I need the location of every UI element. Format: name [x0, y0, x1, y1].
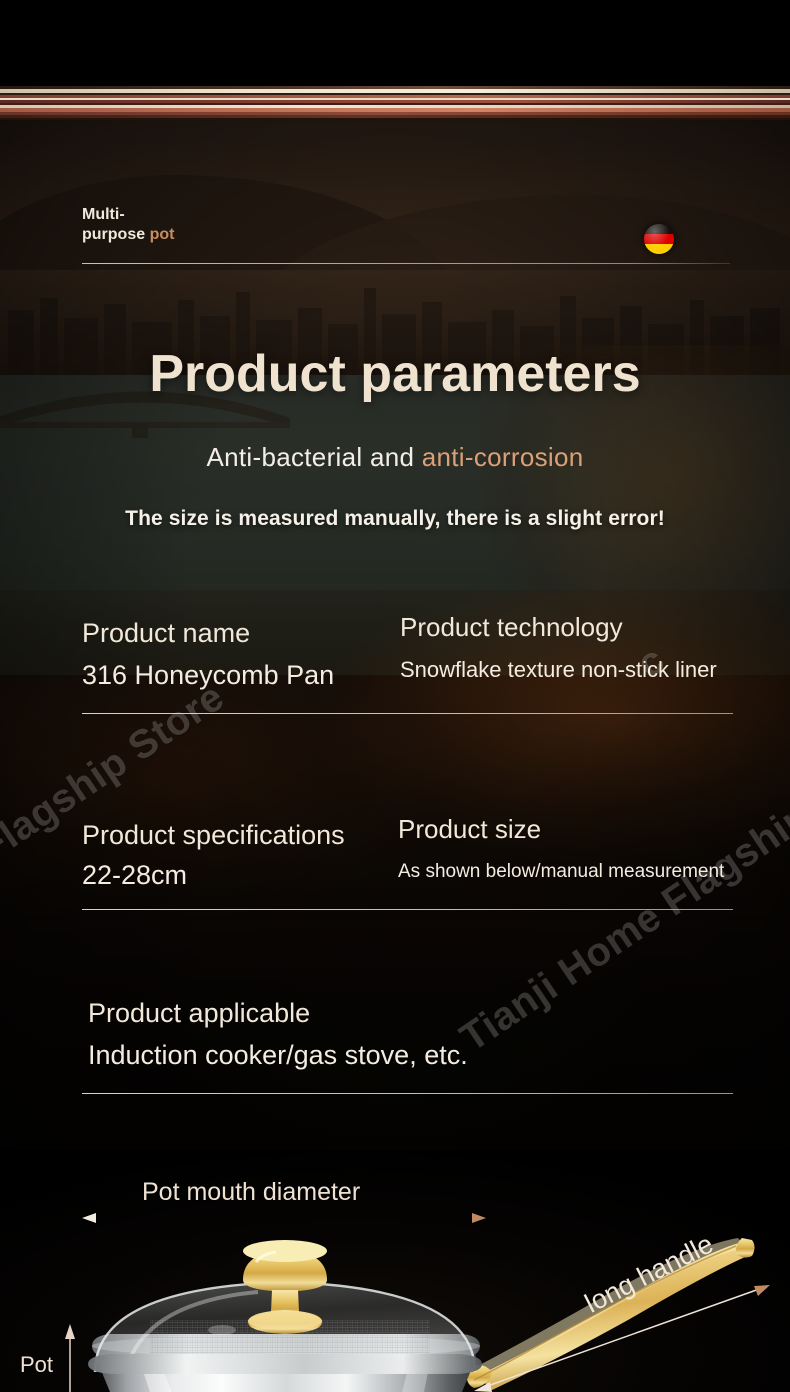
spec-label: Product specifications [82, 820, 345, 851]
spec-value: Snowflake texture non-stick liner [400, 657, 717, 683]
spec-label: Product name [82, 618, 334, 649]
brand-heading-line2-b: pot [150, 226, 175, 243]
spec-value: Induction cooker/gas stove, etc. [88, 1040, 468, 1071]
brand-heading-line1: Multi- [82, 205, 732, 225]
spec-label: Product applicable [88, 998, 468, 1029]
spec-value: As shown below/manual measurement [398, 861, 724, 883]
spec-cell-product-specifications: Product specifications 22-28cm [82, 820, 345, 891]
pot-depth-label: Pot [20, 1352, 53, 1378]
page-title: Product parameters [0, 344, 790, 404]
header-divider [82, 263, 730, 264]
subtitle-part-a: Anti-bacterial and [207, 442, 422, 472]
spec-divider [82, 1093, 733, 1094]
spec-label: Product technology [400, 612, 717, 643]
spec-value: 316 Honeycomb Pan [82, 660, 334, 691]
pot-depth-arrow-icon [65, 1324, 75, 1392]
brand-heading: Multi- purpose pot [82, 205, 732, 246]
brand-header: Multi- purpose pot [82, 205, 732, 246]
brand-heading-line2-a: purpose [82, 226, 150, 243]
mouth-diameter-label: Pot mouth diameter [142, 1178, 360, 1207]
subtitle-part-b: anti-corrosion [422, 442, 584, 472]
spec-label: Product size [398, 814, 724, 845]
german-flag-icon [644, 224, 674, 254]
pot-handle-icon [467, 1238, 755, 1390]
spec-value: 22-28cm [82, 860, 345, 891]
top-black-bar [0, 0, 790, 86]
decorative-stripe-band [0, 86, 790, 120]
spec-cell-product-name: Product name 316 Honeycomb Pan [82, 618, 334, 691]
pot-knob-icon [243, 1240, 327, 1334]
spec-divider [82, 713, 733, 714]
spec-cell-product-size: Product size As shown below/manual measu… [398, 814, 724, 883]
product-infographic-page: e Flagship Store Tianji Home Flagship c … [0, 0, 790, 1392]
page-subtitle: Anti-bacterial and anti-corrosion [0, 442, 790, 473]
spec-divider [82, 909, 733, 910]
mouth-diameter-arrow-icon [82, 1213, 486, 1223]
spec-cell-product-technology: Product technology Snowflake texture non… [400, 612, 717, 683]
spec-cell-product-applicable: Product applicable Induction cooker/gas … [88, 998, 468, 1071]
measurement-notice: The size is measured manually, there is … [0, 507, 790, 531]
